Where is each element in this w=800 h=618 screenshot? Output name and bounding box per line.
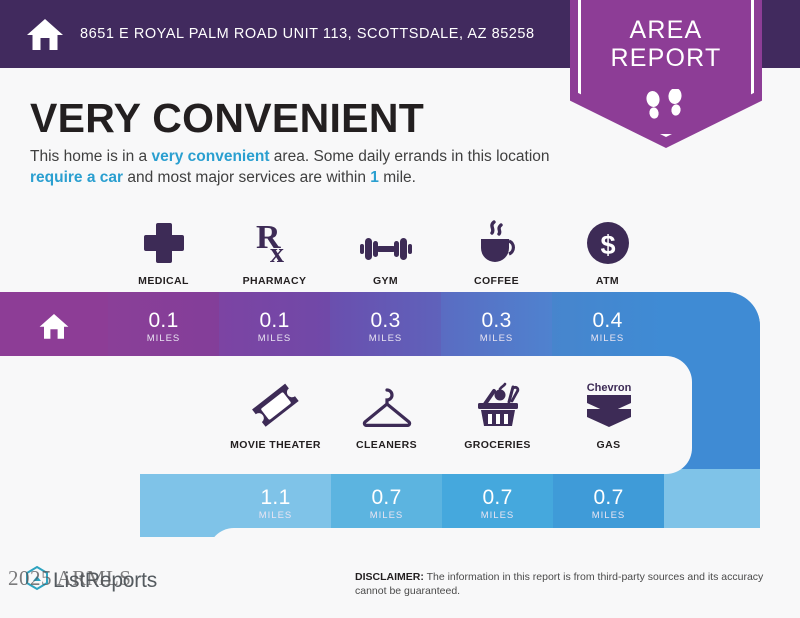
distance-unit: MILES [592,510,626,521]
distance-value: 0.3 [481,309,511,332]
rx-icon: R x [252,218,298,266]
category-atm: $ ATM [552,218,663,287]
desc-highlight-1: very convenient [151,148,269,165]
distance-value: 0.7 [482,486,512,509]
category-coffee: COFFEE [441,218,552,287]
ribbon-left-curve [140,469,210,537]
medical-cross-icon [141,218,187,266]
distance-unit: MILES [147,333,181,344]
bottom-distance-bar: 1.1 MILES 0.7 MILES 0.7 MILES 0.7 MILES [140,469,760,537]
distance-cell-groceries: 0.7 MILES [442,469,553,537]
distance-value: 0.3 [370,309,400,332]
category-medical: MEDICAL [108,218,219,287]
distance-cell-gym: 0.3 MILES [330,292,441,360]
category-movie-theater: MOVIE THEATER [220,382,331,451]
chevron-gas-icon: Chevron [578,382,640,430]
area-report-badge-text: AREA REPORT [570,16,762,72]
distance-unit: MILES [591,333,625,344]
category-label: MOVIE THEATER [230,439,321,451]
distance-cell-medical: 0.1 MILES [108,292,219,360]
distance-value: 0.1 [259,309,289,332]
distance-value: 0.7 [593,486,623,509]
ticket-icon [249,382,303,430]
desc-highlight-3: 1 [370,169,379,186]
top-distance-cells: 0.1 MILES 0.1 MILES 0.3 MILES 0.3 MILES … [0,292,760,360]
property-address: 8651 E ROYAL PALM ROAD UNIT 113, SCOTTSD… [80,24,535,44]
distance-cell-atm: 0.4 MILES [552,292,663,360]
distance-unit: MILES [369,333,403,344]
top-category-icons: MEDICAL R x PHARMACY [108,218,668,287]
category-pharmacy: R x PHARMACY [219,218,330,287]
home-marker-cell [0,292,108,360]
page-title: VERY CONVENIENT [30,95,424,142]
category-label: GROCERIES [464,439,531,451]
description-text: This home is in a very convenient area. … [30,146,575,188]
coffee-cup-icon [473,218,521,266]
category-label: PHARMACY [243,275,307,287]
disclaimer-text: DISCLAIMER: The information in this repo… [355,570,775,598]
badge-line-1: AREA [570,16,762,44]
svg-text:$: $ [600,230,615,260]
distance-unit: MILES [481,510,515,521]
home-icon [24,13,66,55]
dollar-circle-icon: $ [585,218,631,266]
distance-value: 0.4 [592,309,622,332]
grocery-basket-icon [472,382,524,430]
distance-unit: MILES [258,333,292,344]
desc-highlight-2: require a car [30,169,123,186]
distance-unit: MILES [480,333,514,344]
category-gas: Chevron GAS [553,382,664,451]
category-cleaners: CLEANERS [331,382,442,451]
category-groceries: GROCERIES [442,382,553,451]
category-label: GYM [373,275,398,287]
distance-unit: MILES [370,510,404,521]
desc-part-4: mile. [379,169,416,186]
distance-cell-gas: 0.7 MILES [553,469,664,537]
desc-part-3: and most major services are within [123,169,370,186]
distance-value: 0.1 [148,309,178,332]
bottom-distance-cells: 1.1 MILES 0.7 MILES 0.7 MILES 0.7 MILES [220,469,760,537]
clothes-hanger-icon [360,382,414,430]
bottom-category-icons: MOVIE THEATER CLEANERS [220,382,670,451]
category-gym: GYM [330,218,441,287]
desc-part-1: This home is in a [30,148,151,165]
distance-cell-cleaners: 0.7 MILES [331,469,442,537]
badge-line-2: REPORT [570,44,762,72]
mls-watermark: 2025 ARMLS [8,566,131,591]
footprints-icon [570,85,762,127]
distance-unit: MILES [259,510,293,521]
distance-cell-movie-theater: 1.1 MILES [220,469,331,537]
category-label: GAS [597,439,621,451]
area-report-infographic: 8651 E ROYAL PALM ROAD UNIT 113, SCOTTSD… [0,0,800,618]
distance-cell-coffee: 0.3 MILES [441,292,552,360]
top-distance-bar: 0.1 MILES 0.1 MILES 0.3 MILES 0.3 MILES … [0,292,760,360]
desc-part-2: area. Some daily errands in this locatio… [270,148,550,165]
disclaimer-label: DISCLAIMER: [355,571,424,583]
distance-value: 0.7 [371,486,401,509]
category-label: MEDICAL [138,275,189,287]
home-icon [37,310,71,342]
category-label: COFFEE [474,275,519,287]
svg-text:x: x [270,238,284,266]
distance-cell-pharmacy: 0.1 MILES [219,292,330,360]
category-label: ATM [596,275,619,287]
gas-brand-label: Chevron [586,382,631,394]
category-label: CLEANERS [356,439,417,451]
distance-value: 1.1 [260,486,290,509]
dumbbell-icon [360,218,412,266]
